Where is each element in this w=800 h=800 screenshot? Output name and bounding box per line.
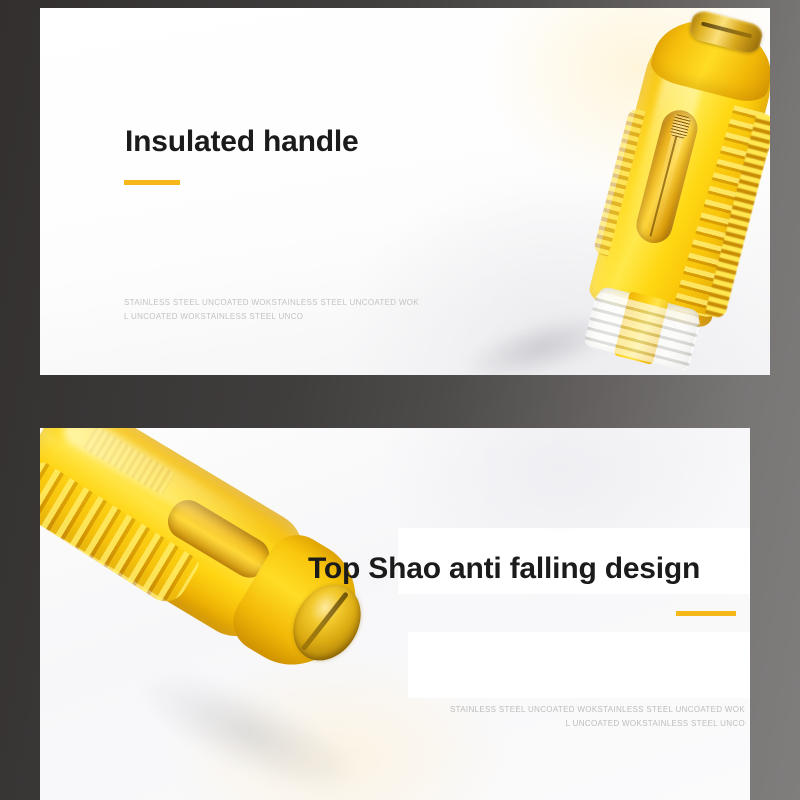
heading-accent-bar <box>676 611 736 616</box>
panel-heading: Top Shao anti falling design <box>308 552 700 586</box>
product-feature-page: Insulated handle STAINLESS STEEL UNCOATE… <box>0 0 800 800</box>
caption-line-1: STAINLESS STEEL UNCOATED WOKSTAINLESS ST… <box>124 296 424 310</box>
panel-caption: STAINLESS STEEL UNCOATED WOKSTAINLESS ST… <box>440 703 745 731</box>
caption-line-1: STAINLESS STEEL UNCOATED WOKSTAINLESS ST… <box>440 703 745 717</box>
caption-backdrop-plate <box>408 632 750 698</box>
panel-caption: STAINLESS STEEL UNCOATED WOKSTAINLESS ST… <box>124 296 424 324</box>
heading-accent-bar <box>124 180 180 185</box>
caption-line-2: L UNCOATED WOKSTAINLESS STEEL UNCO <box>440 717 745 731</box>
caption-line-2: L UNCOATED WOKSTAINLESS STEEL UNCO <box>124 310 424 324</box>
feature-panel-top-shao-anti-falling-design <box>40 428 750 800</box>
feature-panel-insulated-handle: Insulated handle STAINLESS STEEL UNCOATE… <box>40 8 770 375</box>
panel-heading: Insulated handle <box>125 125 359 159</box>
